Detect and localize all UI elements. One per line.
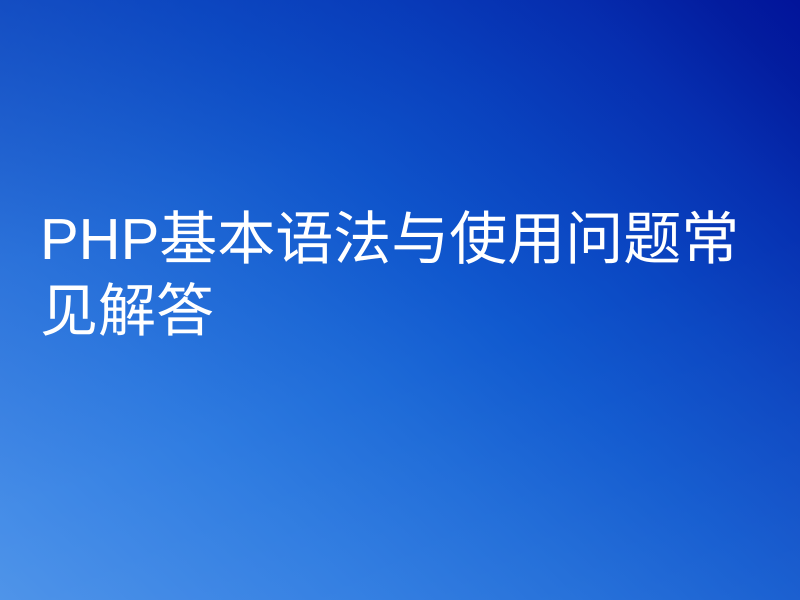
title-block: PHP基本语法与使用问题常见解答 [40,204,770,348]
cover-slide: PHP基本语法与使用问题常见解答 [0,0,800,600]
page-title: PHP基本语法与使用问题常见解答 [40,204,770,348]
